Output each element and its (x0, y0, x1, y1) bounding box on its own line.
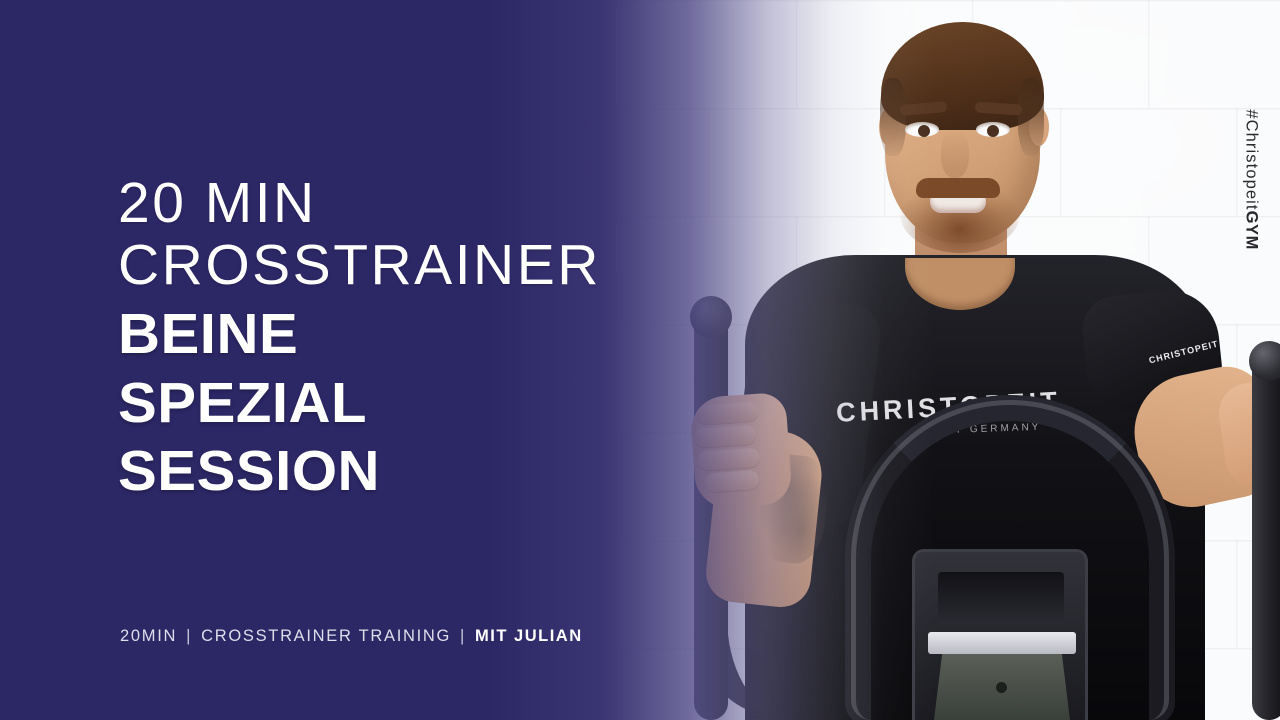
title-line-session: SESSION (118, 444, 730, 500)
caption-category: CROSSTRAINER TRAINING (201, 627, 451, 646)
title-line-focus: BEINE (118, 307, 730, 363)
caption-bar: 20MIN | CROSSTRAINER TRAINING | MIT JULI… (120, 627, 583, 646)
hashtag-vertical: #ChristopeitGYM (1242, 109, 1261, 250)
title-line-duration: 20 MIN (118, 176, 718, 232)
title-block: 20 MIN CROSSTRAINER BEINE SPEZIAL SESSIO… (118, 176, 718, 500)
hashtag-suffix: GYM (1243, 211, 1261, 250)
title-line-type: SPEZIAL (118, 376, 730, 432)
caption-separator-2: | (451, 627, 475, 646)
caption-trainer: MIT JULIAN (475, 627, 583, 646)
title-line-activity: CROSSTRAINER (118, 238, 718, 294)
hashtag-prefix: #Christopeit (1243, 109, 1261, 210)
caption-duration: 20MIN (120, 627, 177, 646)
video-thumbnail: CHRISTOPEIT SPORT GERMANY CHRISTOPEIT (0, 0, 1280, 720)
caption-separator-1: | (177, 627, 201, 646)
